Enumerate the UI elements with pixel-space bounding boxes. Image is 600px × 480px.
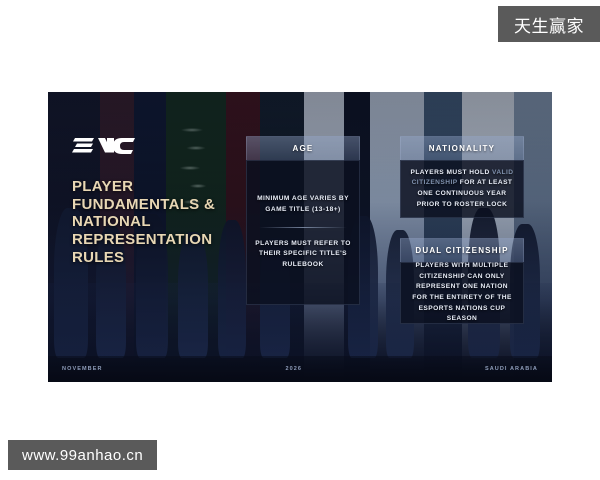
enc-logo: [72, 136, 136, 156]
card-age-body: MINIMUM AGE VARIES BY GAME TITLE (13-18+…: [246, 160, 360, 305]
footer-month: NOVEMBER: [62, 366, 103, 372]
watermark-top-right-text: 天生赢家: [514, 12, 584, 37]
footer-year: 2026: [285, 366, 302, 372]
footer-location: SAUDI ARABIA: [485, 366, 538, 372]
nationality-text-before: PLAYERS MUST HOLD: [410, 169, 492, 176]
card-nationality-body: PLAYERS MUST HOLD VALID CITIZENSHIP FOR …: [400, 160, 524, 218]
watermark-bottom-left-text: www.99anhao.cn: [22, 447, 143, 464]
card-nationality-text: PLAYERS MUST HOLD VALID CITIZENSHIP FOR …: [409, 168, 515, 211]
card-age-paragraph-2: PLAYERS MUST REFER TO THEIR SPECIFIC TIT…: [255, 239, 351, 271]
silhouette-figure: [218, 220, 246, 358]
title-block: PLAYER FUNDAMENTALS & NATIONAL REPRESENT…: [72, 136, 222, 266]
card-dual-citizenship-header: DUAL CITIZENSHIP: [400, 238, 524, 262]
watermark-bottom-left: www.99anhao.cn: [8, 440, 157, 470]
card-age[interactable]: AGE MINIMUM AGE VARIES BY GAME TITLE (13…: [246, 136, 360, 305]
watermark-top-right: 天生赢家: [498, 6, 600, 42]
card-nationality[interactable]: NATIONALITY PLAYERS MUST HOLD VALID CITI…: [400, 136, 524, 218]
card-age-paragraph-1: MINIMUM AGE VARIES BY GAME TITLE (13-18+…: [255, 194, 351, 215]
presentation-slide: PLAYER FUNDAMENTALS & NATIONAL REPRESENT…: [48, 92, 552, 382]
slide-footer: NOVEMBER 2026 SAUDI ARABIA: [48, 356, 552, 382]
card-age-divider: [259, 227, 347, 228]
card-dual-citizenship[interactable]: DUAL CITIZENSHIP PLAYERS WITH MULTIPLE C…: [400, 238, 524, 324]
card-dual-citizenship-text: PLAYERS WITH MULTIPLE CITIZENSHIP CAN ON…: [409, 261, 515, 325]
card-dual-citizenship-body: PLAYERS WITH MULTIPLE CITIZENSHIP CAN ON…: [400, 262, 524, 324]
card-nationality-header: NATIONALITY: [400, 136, 524, 160]
page-title: PLAYER FUNDAMENTALS & NATIONAL REPRESENT…: [72, 178, 222, 266]
card-age-header: AGE: [246, 136, 360, 160]
